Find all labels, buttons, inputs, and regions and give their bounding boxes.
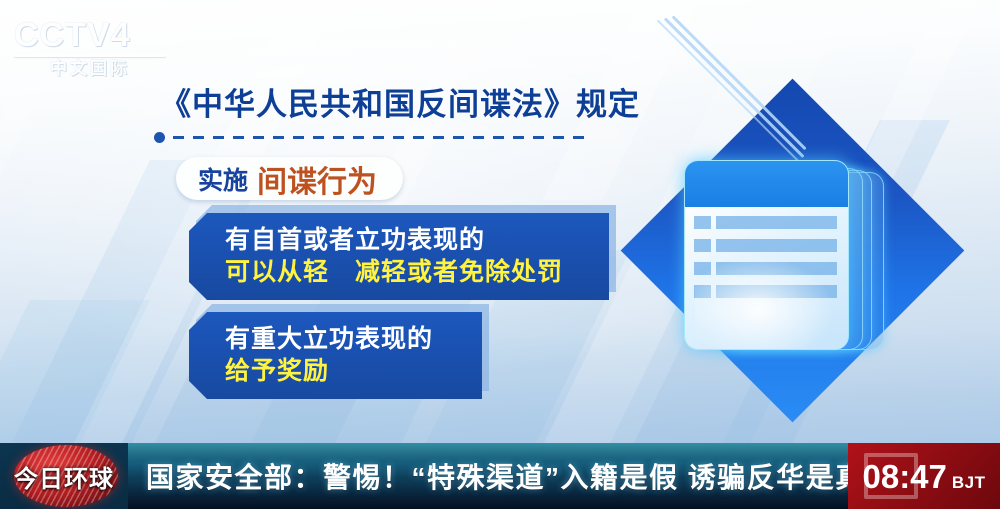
document-text-line [694,285,837,298]
document-line-bullet [694,285,711,298]
title-divider [154,132,640,142]
news-ticker-bar: 今日环球 国家安全部：警惕！“特殊渠道”入籍是假 诱骗反华是真 08:47 BJ… [0,443,1000,509]
slide-title-group: 《中华人民共和国反间谍法》规定 [160,88,640,142]
subject-pill-subject: 间谍行为 [257,157,377,201]
document-line-bar [716,262,837,275]
document-header-bar [685,161,848,207]
document-stack [684,160,889,353]
clock-widget: 08:47 BJT [848,443,1000,509]
callout-block-2: 有重大立功表现的 给予奖励 [189,312,482,399]
document-body [685,207,848,350]
title-dashed-line [173,136,593,139]
subject-pill: 实施 间谍行为 [176,157,403,200]
broadcast-screen: CCTV4 中文国际 [0,0,1000,509]
page-title: 《中华人民共和国反间谍法》规定 [160,88,640,122]
document-line-bar [716,216,837,229]
callout-consequence: 可以从轻 减轻或者免除处罚 [225,256,583,288]
document-line-bullet [694,262,711,275]
callout-condition: 有自首或者立功表现的 [225,224,583,256]
subject-pill-prefix: 实施 [198,161,248,197]
document-diamond-illustration [612,74,972,426]
document-line-bullet [694,239,711,252]
document-line-bullet [694,216,711,229]
document-text-line [694,216,837,229]
clock-inner: 08:47 BJT [862,460,985,493]
document-front-page [684,160,849,350]
document-text-line [694,239,837,252]
ticker-headline: 国家安全部：警惕！“特殊渠道”入籍是假 诱骗反华是真 [146,456,848,496]
callout-condition: 有重大立功表现的 [225,323,456,355]
callout-consequence: 给予奖励 [225,355,456,387]
ticker-text-area: 国家安全部：警惕！“特殊渠道”入籍是假 诱骗反华是真 [128,443,848,509]
clock-timezone: BJT [952,473,986,493]
clock-time: 08:47 [862,460,946,493]
document-line-bar [716,239,837,252]
callout-block-1: 有自首或者立功表现的 可以从轻 减轻或者免除处罚 [189,213,609,300]
document-text-line [694,262,837,275]
document-line-bar [716,285,837,298]
program-name-label: 今日环球 [14,459,114,494]
title-dot-marker [154,132,165,143]
callout-body: 有重大立功表现的 给予奖励 [189,312,482,399]
program-logo: 今日环球 [0,443,128,509]
callout-body: 有自首或者立功表现的 可以从轻 减轻或者免除处罚 [189,213,609,300]
